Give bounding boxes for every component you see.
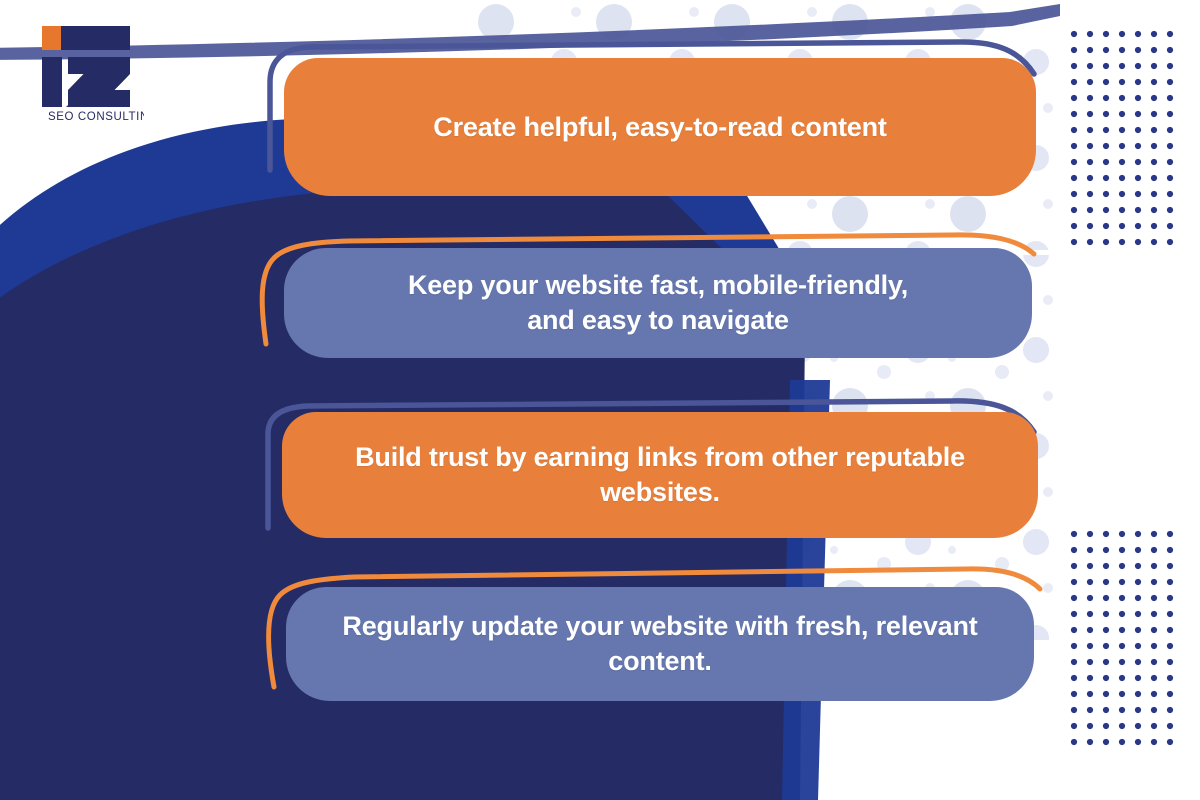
tip-card-2-body: Keep your website fast, mobile-friendly,…	[284, 248, 1032, 358]
logo-orange-square	[42, 26, 61, 50]
infographic-canvas: SEO CONSULTING Create helpful, easy-to-r…	[0, 0, 1200, 800]
tip-card-1-body: Create helpful, easy-to-read content	[284, 58, 1036, 196]
dot-grid-bottom	[1070, 530, 1178, 750]
tip-card-4[interactable]: Regularly update your website with fresh…	[250, 565, 1050, 705]
logo-tagline: SEO CONSULTING	[48, 111, 144, 123]
logo-letter-i	[42, 57, 62, 107]
tip-card-2[interactable]: Keep your website fast, mobile-friendly,…	[252, 232, 1042, 362]
tip-card-3-body: Build trust by earning links from other …	[282, 412, 1038, 538]
tip-card-3-text: Build trust by earning links from other …	[282, 440, 1038, 509]
brand-logo[interactable]: SEO CONSULTING	[28, 18, 144, 123]
tip-card-4-body: Regularly update your website with fresh…	[286, 587, 1034, 701]
tip-card-1-text: Create helpful, easy-to-read content	[407, 110, 912, 145]
tip-card-1[interactable]: Create helpful, easy-to-read content	[258, 38, 1048, 208]
tip-card-3[interactable]: Build trust by earning links from other …	[252, 398, 1052, 548]
tip-card-4-text: Regularly update your website with fresh…	[286, 609, 1034, 678]
dot-grid-top	[1070, 30, 1178, 250]
tip-card-2-text: Keep your website fast, mobile-friendly,…	[382, 268, 934, 337]
logo-top-bar	[61, 26, 130, 50]
